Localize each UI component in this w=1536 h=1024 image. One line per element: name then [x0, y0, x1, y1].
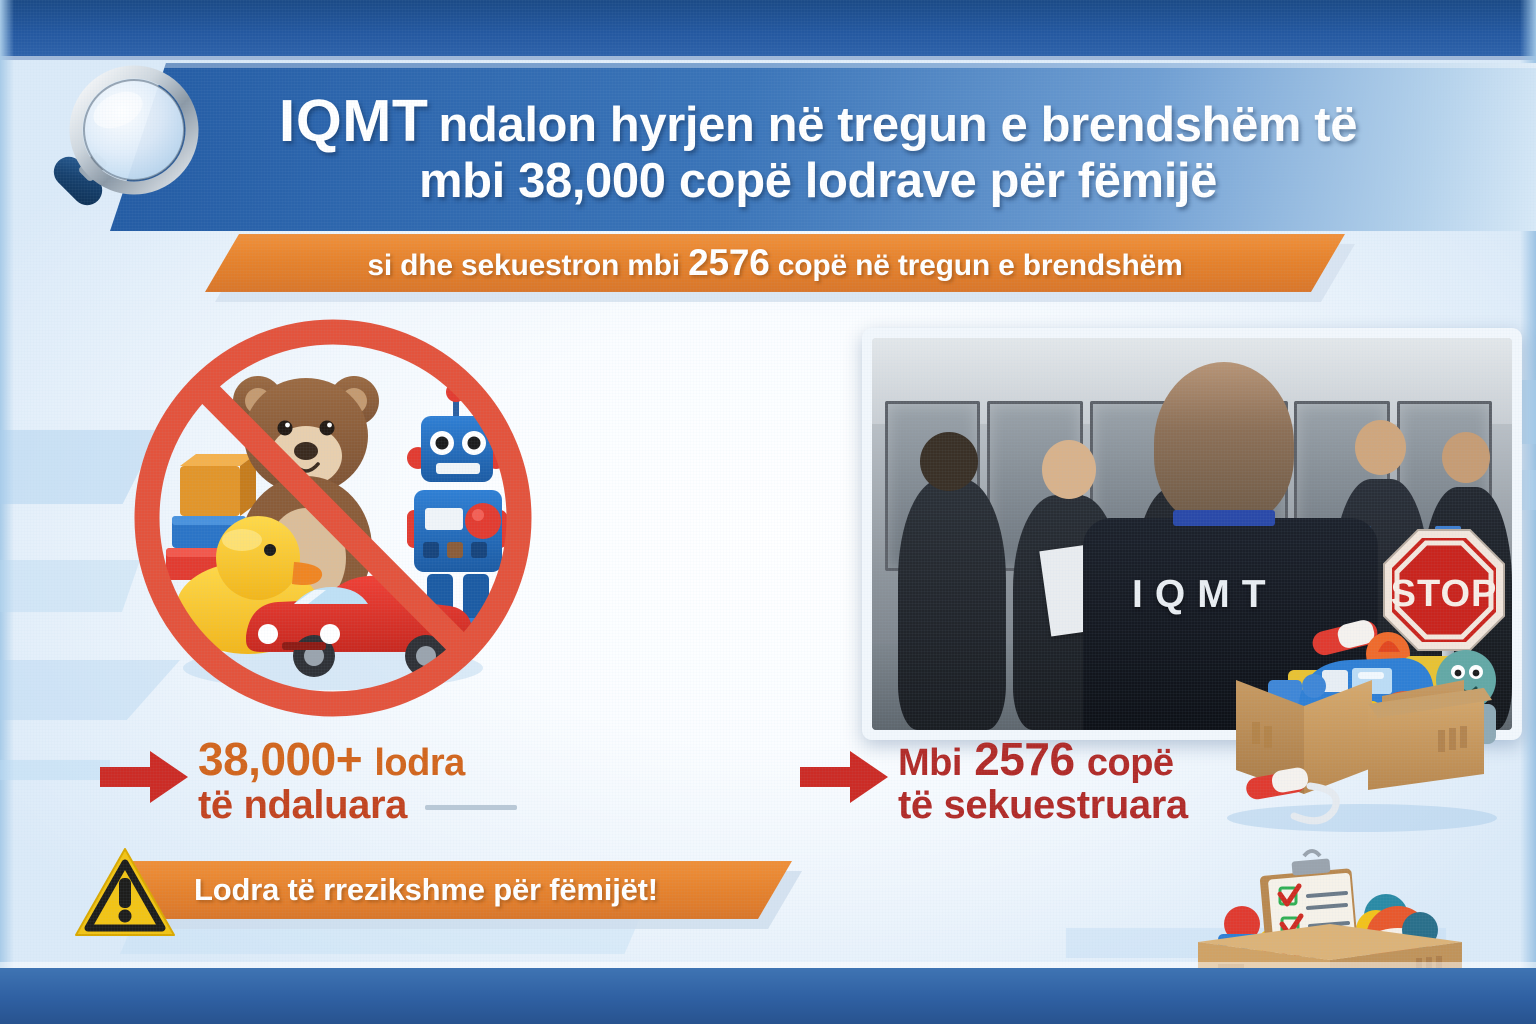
stat-banned-toys-value: 38,000+ lodra	[198, 735, 517, 784]
warning-ribbon: Lodra të rrezikshme për fëmijët!	[132, 861, 792, 919]
subtitle-ribbon-text: si dhe sekuestron mbi 2576 copë në tregu…	[367, 242, 1182, 284]
stat-divider-rule	[425, 805, 517, 810]
photo-person-woman-head	[1042, 440, 1096, 499]
stat-banned-toys: 38,000+ lodra të ndaluara	[100, 735, 517, 826]
header-line-1-rest: ndalon hyrjen në tregun e brendshëm të	[438, 98, 1357, 152]
brand-name: IQMT	[279, 88, 428, 154]
magnifier-icon	[30, 58, 220, 238]
warning-triangle-icon	[72, 845, 178, 941]
stat-banned-number: 38,000+	[198, 733, 362, 785]
svg-text:STOP: STOP	[1391, 573, 1498, 615]
ribbon-number: 2576	[688, 242, 770, 283]
ribbon-prefix: si dhe sekuestron mbi	[367, 249, 680, 282]
header-title-block: IQMTndalon hyrjen në tregun e brendshëm …	[228, 74, 1408, 224]
stat-banned-label: të ndaluara	[198, 783, 407, 827]
stat-seized-number: 2576	[974, 733, 1074, 785]
header-line-2-rest: copë lodrave për fëmijë	[679, 154, 1217, 208]
photo-person-left-head	[920, 432, 978, 491]
photo-inspector-head	[1154, 362, 1295, 527]
stat-seized-pieces-text: Mbi 2576 copë të sekuestruara	[898, 735, 1188, 826]
stat-banned-toys-label-row: të ndaluara	[198, 784, 517, 826]
warning-ribbon-text: Lodra të rrezikshme për fëmijët!	[194, 872, 658, 908]
photo-jacket-label: IQMT	[1132, 573, 1277, 617]
stat-seized-prefix: Mbi	[898, 742, 962, 784]
ribbon-suffix: copë në tregun e brendshëm	[778, 249, 1183, 282]
header-line-2: mbi 38,000 copë lodrave për fëmijë	[419, 156, 1217, 208]
header-line-2-prefix: mbi	[419, 154, 505, 208]
infographic-canvas: IQMTndalon hyrjen në tregun e brendshëm …	[0, 0, 1536, 1024]
bottom-border-bar	[0, 968, 1536, 1024]
stat-seized-value: Mbi 2576 copë	[898, 735, 1188, 784]
photo-person-left	[898, 479, 1007, 730]
prohibited-toys-illustration	[118, 318, 548, 733]
stat-seized-unit: copë	[1087, 742, 1174, 784]
confiscated-toys-box	[1192, 618, 1522, 833]
photo-person-right-2-head	[1442, 432, 1490, 483]
stat-banned-toys-text: 38,000+ lodra të ndaluara	[198, 735, 517, 826]
top-border-bar	[0, 0, 1536, 60]
header-line-2-number: 38,000	[518, 154, 665, 208]
photo-inspector-lanyard	[1173, 510, 1275, 526]
decor-shape-left-4	[0, 760, 110, 780]
header-line-1: IQMTndalon hyrjen në tregun e brendshëm …	[279, 90, 1357, 153]
right-arrow-icon	[800, 749, 888, 805]
left-border-bar	[0, 0, 14, 1024]
right-arrow-icon	[100, 749, 188, 805]
stat-seized-pieces: Mbi 2576 copë të sekuestruara	[800, 735, 1188, 826]
stat-banned-unit: lodra	[374, 742, 464, 784]
stat-seized-label: të sekuestruara	[898, 784, 1188, 826]
header-highlight-line	[110, 63, 1536, 68]
subtitle-ribbon: si dhe sekuestron mbi 2576 copë në tregu…	[205, 234, 1345, 292]
